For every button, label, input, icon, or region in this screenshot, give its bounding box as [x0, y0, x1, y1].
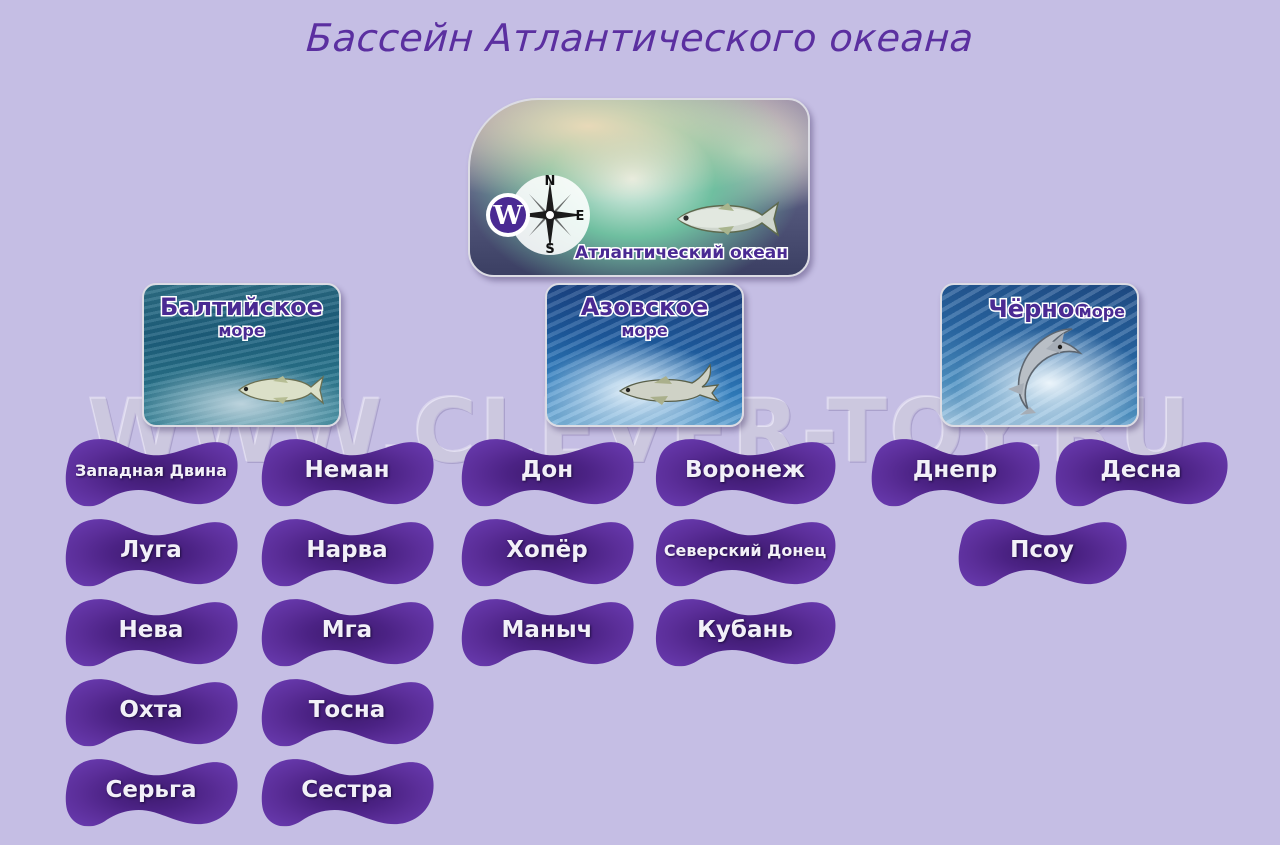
river-blob[interactable]: Охта [62, 678, 240, 746]
river-label: Охта [119, 697, 182, 727]
river-blob[interactable]: Кубань [652, 598, 838, 666]
river-label: Маныч [502, 617, 593, 647]
river-label: Нарва [306, 537, 387, 567]
river-label: Кубань [697, 617, 793, 647]
river-blob[interactable]: Днепр [868, 438, 1042, 506]
sea-card-azov[interactable]: Азовское море [545, 283, 744, 427]
sea-sub-label: море [547, 321, 742, 340]
river-blob[interactable]: Хопёр [458, 518, 636, 586]
river-blob[interactable]: Западная Двина [62, 438, 240, 506]
page-title: Бассейн Атлантического океана [0, 16, 1280, 60]
river-label: Десна [1100, 457, 1181, 487]
river-label: Сестра [301, 777, 392, 807]
sturgeon-icon [614, 363, 724, 409]
sea-name: Азовское [547, 293, 742, 321]
river-label: Воронеж [685, 457, 805, 487]
river-blob[interactable]: Луга [62, 518, 240, 586]
river-blob[interactable]: Нарва [258, 518, 436, 586]
fish-icon [231, 373, 327, 407]
ocean-card[interactable]: N E S W Атлантический океан [468, 98, 810, 277]
river-label: Луга [120, 537, 182, 567]
compass-east-label: E [576, 209, 585, 224]
river-label: Днепр [913, 457, 997, 487]
dolphin-icon [994, 323, 1098, 415]
river-blob[interactable]: Нева [62, 598, 240, 666]
sea-sub-label: море [144, 321, 339, 340]
river-blob[interactable]: Воронеж [652, 438, 838, 506]
river-label: Тосна [309, 697, 386, 727]
river-label: Мга [322, 617, 372, 647]
sea-card-baltic[interactable]: Балтийское море [142, 283, 341, 427]
river-label: Западная Двина [75, 461, 227, 484]
river-label: Неман [304, 457, 389, 487]
sea-card-black[interactable]: Чёрное море [940, 283, 1139, 427]
river-blob[interactable]: Северский Донец [652, 518, 838, 586]
river-label: Псоу [1010, 537, 1074, 567]
ocean-label: Атлантический океан [510, 243, 788, 263]
river-blob[interactable]: Десна [1052, 438, 1230, 506]
river-label: Дон [521, 457, 573, 487]
river-label: Хопёр [506, 537, 588, 567]
river-label: Серьга [105, 777, 196, 807]
river-blob[interactable]: Дон [458, 438, 636, 506]
brand-logo-letter: W [492, 201, 523, 231]
river-blob[interactable]: Маныч [458, 598, 636, 666]
compass-north-label: N [545, 174, 556, 189]
river-blob[interactable]: Псоу [955, 518, 1129, 586]
river-blob[interactable]: Серьга [62, 758, 240, 826]
river-blob[interactable]: Тосна [258, 678, 436, 746]
river-blob[interactable]: Неман [258, 438, 436, 506]
river-blob[interactable]: Мга [258, 598, 436, 666]
sea-sub-label: море [1079, 302, 1125, 321]
sea-name: Балтийское [144, 293, 339, 321]
river-label: Северский Донец [664, 541, 826, 564]
river-label: Нева [119, 617, 184, 647]
river-blob[interactable]: Сестра [258, 758, 436, 826]
herring-fish-icon [666, 199, 784, 239]
